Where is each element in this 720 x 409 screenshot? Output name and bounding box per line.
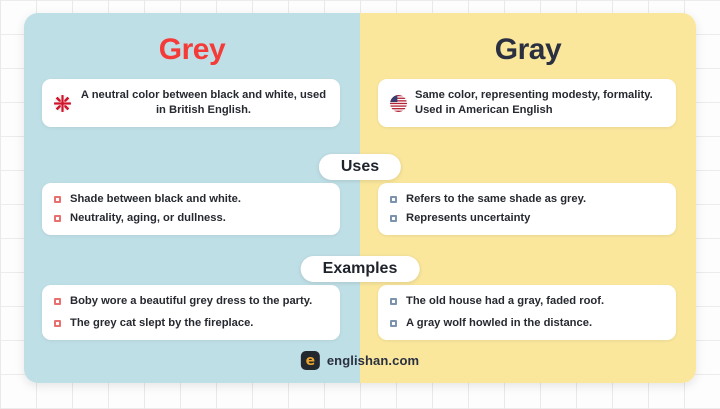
list-item-text: Boby wore a beautiful grey dress to the … — [70, 295, 312, 307]
us-flag-icon — [390, 95, 407, 112]
list-item: Represents uncertainty — [388, 211, 664, 227]
logo-glyph: e — [306, 354, 316, 368]
grey-examples-box: Boby wore a beautiful grey dress to the … — [42, 285, 340, 340]
page-background: Grey — [0, 0, 720, 409]
grey-uses-list: Shade between black and white. Neutralit… — [42, 183, 340, 235]
list-item-text: The grey cat slept by the fireplace. — [70, 317, 253, 329]
bullet-square-icon — [390, 196, 397, 203]
bullet-square-icon — [54, 298, 61, 305]
bullet-square-icon — [390, 298, 397, 305]
comparison-card: Grey — [24, 13, 696, 383]
list-item-text: Refers to the same shade as grey. — [406, 193, 586, 205]
list-item: Boby wore a beautiful grey dress to the … — [52, 294, 328, 310]
bullet-square-icon — [54, 196, 61, 203]
gray-uses-list: Refers to the same shade as grey. Repres… — [378, 183, 676, 235]
list-item: The grey cat slept by the fireplace. — [52, 316, 328, 332]
bullet-square-icon — [390, 215, 397, 222]
gray-examples-box: The old house had a gray, faded roof. A … — [378, 285, 676, 340]
gray-definition-box: Same color, representing modesty, formal… — [378, 79, 676, 127]
list-item: Shade between black and white. — [52, 192, 328, 208]
bullet-square-icon — [54, 215, 61, 222]
gray-uses-box: Refers to the same shade as grey. Repres… — [378, 183, 676, 235]
gray-examples-list: The old house had a gray, faded roof. A … — [378, 285, 676, 340]
section-label-examples: Examples — [301, 256, 420, 282]
uk-flag-icon — [54, 95, 71, 112]
list-item: The old house had a gray, faded roof. — [388, 294, 664, 310]
grey-definition-text: A neutral color between black and white,… — [79, 88, 328, 118]
list-item: Neutrality, aging, or dullness. — [52, 211, 328, 227]
brand-name: englishan.com — [327, 353, 419, 368]
grey-uses-box: Shade between black and white. Neutralit… — [42, 183, 340, 235]
list-item-text: A gray wolf howled in the distance. — [406, 317, 592, 329]
section-label-uses: Uses — [319, 154, 401, 180]
list-item-text: Represents uncertainty — [406, 212, 530, 224]
grey-examples-list: Boby wore a beautiful grey dress to the … — [42, 285, 340, 340]
grey-definition-box: A neutral color between black and white,… — [42, 79, 340, 127]
panel-grey-title: Grey — [24, 13, 360, 75]
panel-gray: Gray — [360, 13, 696, 383]
panel-grey: Grey — [24, 13, 360, 383]
list-item-text: Neutrality, aging, or dullness. — [70, 212, 226, 224]
bullet-square-icon — [54, 320, 61, 327]
list-item: A gray wolf howled in the distance. — [388, 316, 664, 332]
panel-gray-title: Gray — [360, 13, 696, 75]
list-item-text: The old house had a gray, faded roof. — [406, 295, 604, 307]
englishan-logo-icon: e — [301, 351, 320, 370]
list-item-text: Shade between black and white. — [70, 193, 241, 205]
brand-footer: e englishan.com — [301, 351, 419, 370]
bullet-square-icon — [390, 320, 397, 327]
gray-definition-text: Same color, representing modesty, formal… — [415, 88, 664, 118]
list-item: Refers to the same shade as grey. — [388, 192, 664, 208]
